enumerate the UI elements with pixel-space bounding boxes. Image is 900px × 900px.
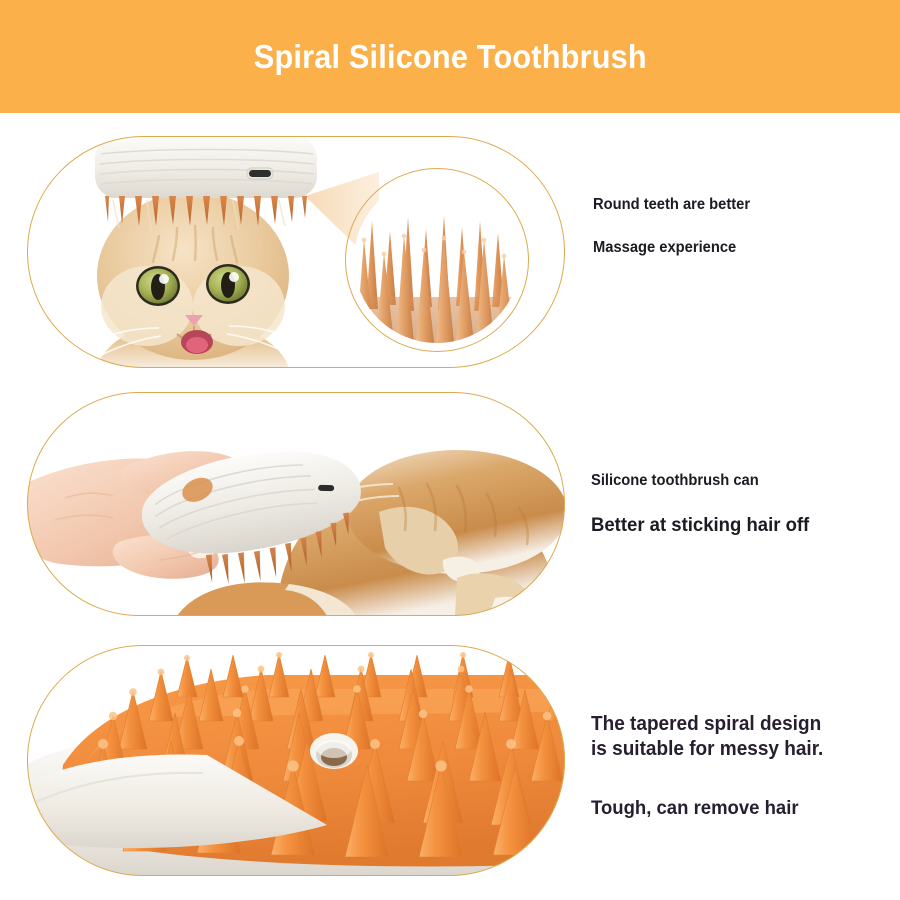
panel2-line-1: Silicone toothbrush can <box>591 472 809 490</box>
panel-hand-grooming-art <box>27 392 565 616</box>
panel3-line-1: The tapered spiral design <box>591 712 823 737</box>
panel-hand-grooming <box>27 392 565 616</box>
magnifier-ring <box>345 168 529 352</box>
hand-holding-brush-grooming-cat-illustration <box>27 392 565 616</box>
panel1-line-2: Massage experience <box>593 239 750 257</box>
panel-cat-head-text: Round teeth are better Massage experienc… <box>593 196 758 257</box>
product-infographic: Spiral Silicone Toothbrush <box>0 0 900 900</box>
panel-brush-macro-text: The tapered spiral design is suitable fo… <box>591 712 836 820</box>
macro-orange-silicone-brush-head-illustration <box>27 645 565 876</box>
steam-vent <box>310 733 358 769</box>
panel2-line-2: Better at sticking hair off <box>591 514 809 537</box>
panel-hand-grooming-text: Silicone toothbrush can Better at sticki… <box>591 472 821 537</box>
panel-brush-macro <box>27 645 565 876</box>
panel1-line-1: Round teeth are better <box>593 196 750 214</box>
page-title: Spiral Silicone Toothbrush <box>253 38 646 76</box>
panel3-line-2: is suitable for messy hair. <box>591 737 823 762</box>
panel-brush-macro-art <box>27 645 565 876</box>
panel3-line-3: Tough, can remove hair <box>591 797 823 820</box>
header-banner: Spiral Silicone Toothbrush <box>0 0 900 113</box>
magnifier-circle-spikes <box>345 168 529 352</box>
